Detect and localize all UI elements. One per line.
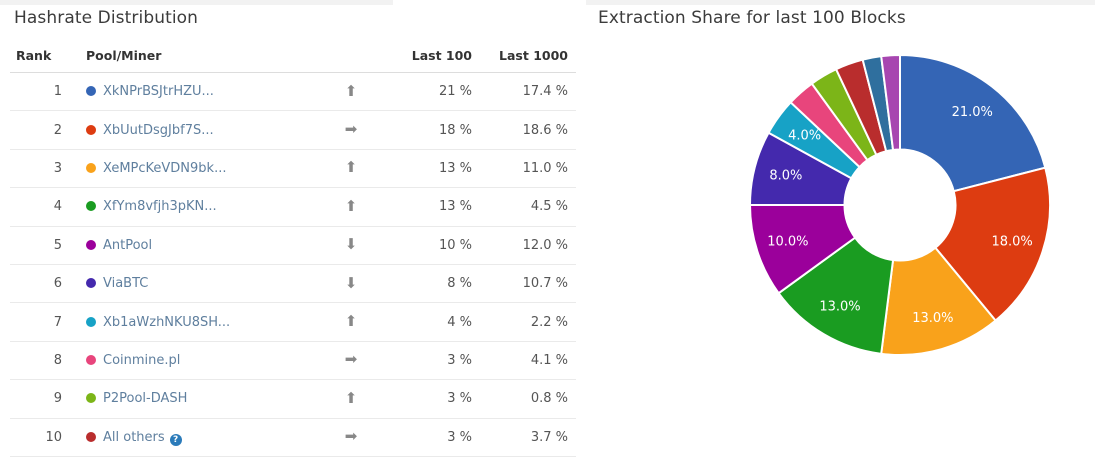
cell-trend: ⬆ bbox=[316, 73, 386, 111]
trend-flat-icon: ➡ bbox=[345, 122, 358, 137]
extraction-share-panel: Extraction Share for last 100 Blocks 21.… bbox=[586, 0, 1095, 453]
cell-last1000: 3.7 % bbox=[478, 418, 576, 456]
table-body: 1XkNPrBSJtrHZU...⬆21 %17.4 %2XbUutDsgJbf… bbox=[10, 73, 576, 457]
pool-color-dot-icon bbox=[86, 163, 96, 173]
cell-pool: Xb1aWzhNKU8SH... bbox=[72, 303, 316, 341]
table-row: 8Coinmine.pl➡3 %4.1 % bbox=[10, 341, 576, 379]
table-row: 6ViaBTC⬇8 %10.7 % bbox=[10, 264, 576, 302]
cell-last1000: 12.0 % bbox=[478, 226, 576, 264]
pool-color-dot-icon bbox=[86, 393, 96, 403]
cell-rank: 6 bbox=[10, 264, 72, 302]
cell-last100: 3 % bbox=[386, 341, 478, 379]
pool-name-link[interactable]: XeMPcKeVDN9bk... bbox=[103, 161, 226, 176]
pool-name-link[interactable]: AntPool bbox=[103, 238, 152, 253]
pool-name-link[interactable]: XkNPrBSJtrHZU... bbox=[103, 84, 214, 99]
table-row: 7Xb1aWzhNKU8SH...⬆4 %2.2 % bbox=[10, 303, 576, 341]
pool-name-label: All others bbox=[103, 430, 165, 445]
table-row: 5AntPool⬇10 %12.0 % bbox=[10, 226, 576, 264]
table-row: 9P2Pool-DASH⬆3 %0.8 % bbox=[10, 380, 576, 418]
cell-pool: XeMPcKeVDN9bk... bbox=[72, 149, 316, 187]
column-header-last100: Last 100 bbox=[386, 42, 478, 73]
table-row: 10All others?➡3 %3.7 % bbox=[10, 418, 576, 456]
cell-last1000: 10.7 % bbox=[478, 264, 576, 302]
cell-last100: 21 % bbox=[386, 73, 478, 111]
cell-rank: 8 bbox=[10, 341, 72, 379]
cell-last1000: 0.8 % bbox=[478, 380, 576, 418]
cell-rank: 1 bbox=[10, 73, 72, 111]
hashrate-table: Rank Pool/Miner Last 100 Last 1000 1XkNP… bbox=[10, 42, 576, 457]
pool-name-link[interactable]: Xb1aWzhNKU8SH... bbox=[103, 315, 230, 330]
cell-pool: ViaBTC bbox=[72, 264, 316, 302]
cell-last100: 13 % bbox=[386, 149, 478, 187]
trend-up-icon: ⬆ bbox=[345, 314, 358, 329]
donut-slice-label: 10.0% bbox=[767, 234, 808, 249]
cell-last100: 4 % bbox=[386, 303, 478, 341]
cell-pool: AntPool bbox=[72, 226, 316, 264]
trend-up-icon: ⬆ bbox=[345, 391, 358, 406]
cell-trend: ⬆ bbox=[316, 188, 386, 226]
cell-last100: 3 % bbox=[386, 418, 478, 456]
pool-name-link[interactable]: Coinmine.pl bbox=[103, 353, 180, 368]
cell-rank: 3 bbox=[10, 149, 72, 187]
pool-color-dot-icon bbox=[86, 201, 96, 211]
donut-chart: 21.0%18.0%13.0%13.0%10.0%8.0%4.0% bbox=[586, 0, 1095, 453]
pool-color-dot-icon bbox=[86, 240, 96, 250]
cell-pool: XkNPrBSJtrHZU... bbox=[72, 73, 316, 111]
column-header-rank: Rank bbox=[10, 42, 72, 73]
trend-down-icon: ⬇ bbox=[345, 237, 358, 252]
cell-pool: XbUutDsgJbf7S... bbox=[72, 111, 316, 149]
pool-name-link[interactable]: ViaBTC bbox=[103, 276, 148, 291]
table-row: 3XeMPcKeVDN9bk...⬆13 %11.0 % bbox=[10, 149, 576, 187]
table-header-row: Rank Pool/Miner Last 100 Last 1000 bbox=[10, 42, 576, 73]
cell-trend: ⬆ bbox=[316, 380, 386, 418]
donut-chart-svg: 21.0%18.0%13.0%13.0%10.0%8.0%4.0% bbox=[586, 0, 1095, 453]
donut-slice-label: 8.0% bbox=[769, 169, 802, 184]
trend-down-icon: ⬇ bbox=[345, 276, 358, 291]
cell-trend: ➡ bbox=[316, 111, 386, 149]
trend-flat-icon: ➡ bbox=[345, 429, 358, 444]
cell-pool: P2Pool-DASH bbox=[72, 380, 316, 418]
cell-last100: 10 % bbox=[386, 226, 478, 264]
cell-rank: 10 bbox=[10, 418, 72, 456]
pool-color-dot-icon bbox=[86, 355, 96, 365]
cell-trend: ⬆ bbox=[316, 149, 386, 187]
table-row: 1XkNPrBSJtrHZU...⬆21 %17.4 % bbox=[10, 73, 576, 111]
cell-trend: ⬇ bbox=[316, 264, 386, 302]
column-header-pool: Pool/Miner bbox=[72, 42, 316, 73]
cell-trend: ⬇ bbox=[316, 226, 386, 264]
column-header-last1000: Last 1000 bbox=[478, 42, 576, 73]
cell-rank: 4 bbox=[10, 188, 72, 226]
pool-name-link[interactable]: XbUutDsgJbf7S... bbox=[103, 123, 214, 138]
cell-last1000: 18.6 % bbox=[478, 111, 576, 149]
table-row: 4XfYm8vfjh3pKN...⬆13 %4.5 % bbox=[10, 188, 576, 226]
cell-last1000: 4.1 % bbox=[478, 341, 576, 379]
cell-trend: ⬆ bbox=[316, 303, 386, 341]
pool-name-link[interactable]: P2Pool-DASH bbox=[103, 391, 187, 406]
cell-pool: All others? bbox=[72, 418, 316, 456]
donut-slice[interactable] bbox=[900, 55, 1045, 191]
cell-trend: ➡ bbox=[316, 418, 386, 456]
cell-last100: 18 % bbox=[386, 111, 478, 149]
cell-rank: 2 bbox=[10, 111, 72, 149]
donut-slice-label: 13.0% bbox=[819, 299, 860, 314]
pool-color-dot-icon bbox=[86, 125, 96, 135]
cell-pool: Coinmine.pl bbox=[72, 341, 316, 379]
pool-color-dot-icon bbox=[86, 86, 96, 96]
trend-up-icon: ⬆ bbox=[345, 84, 358, 99]
help-question-icon[interactable]: ? bbox=[170, 434, 182, 446]
cell-rank: 9 bbox=[10, 380, 72, 418]
cell-last100: 8 % bbox=[386, 264, 478, 302]
column-header-trend bbox=[316, 42, 386, 73]
pool-color-dot-icon bbox=[86, 317, 96, 327]
cell-trend: ➡ bbox=[316, 341, 386, 379]
cell-last100: 3 % bbox=[386, 380, 478, 418]
pool-name-link[interactable]: XfYm8vfjh3pKN... bbox=[103, 199, 217, 214]
donut-slice-label: 13.0% bbox=[912, 311, 953, 326]
donut-slice-label: 4.0% bbox=[788, 129, 821, 144]
cell-last1000: 17.4 % bbox=[478, 73, 576, 111]
table-row: 2XbUutDsgJbf7S...➡18 %18.6 % bbox=[10, 111, 576, 149]
cell-last1000: 4.5 % bbox=[478, 188, 576, 226]
donut-slice-label: 21.0% bbox=[952, 105, 993, 120]
cell-rank: 7 bbox=[10, 303, 72, 341]
cell-last1000: 2.2 % bbox=[478, 303, 576, 341]
cell-last100: 13 % bbox=[386, 188, 478, 226]
trend-up-icon: ⬆ bbox=[345, 199, 358, 214]
donut-slice-label: 18.0% bbox=[991, 234, 1032, 249]
cell-last1000: 11.0 % bbox=[478, 149, 576, 187]
trend-up-icon: ⬆ bbox=[345, 160, 358, 175]
pool-color-dot-icon bbox=[86, 432, 96, 442]
cell-pool: XfYm8vfjh3pKN... bbox=[72, 188, 316, 226]
left-panel-title: Hashrate Distribution bbox=[14, 8, 198, 28]
cell-rank: 5 bbox=[10, 226, 72, 264]
pool-color-dot-icon bbox=[86, 278, 96, 288]
hashrate-distribution-panel: Hashrate Distribution Rank Pool/Miner La… bbox=[0, 0, 586, 453]
trend-flat-icon: ➡ bbox=[345, 352, 358, 367]
